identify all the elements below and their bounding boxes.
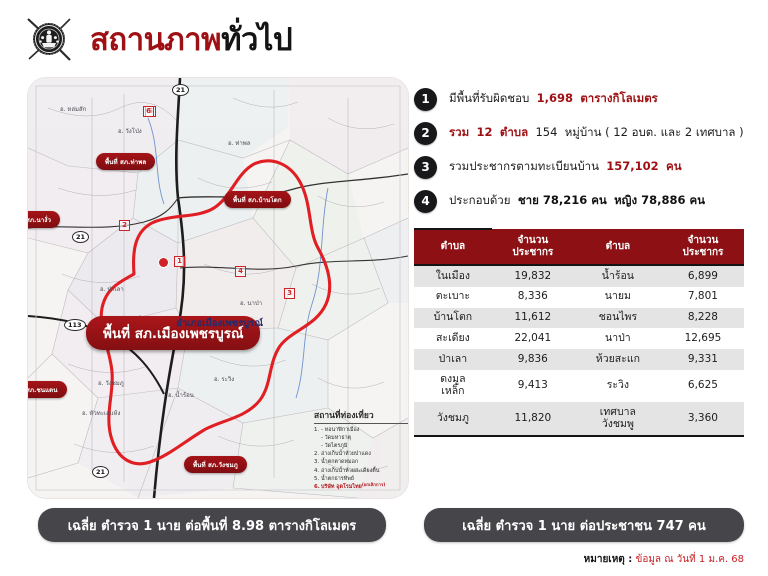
cell-line: ชอนไพร	[576, 312, 660, 324]
footnote-label: หมายเหตุ :	[584, 554, 633, 565]
cell-line: ห้วยสะแก	[576, 354, 660, 366]
fact-part: 12	[477, 125, 493, 139]
table-cell-1: ในเมือง	[414, 265, 492, 287]
table-row: ในเมือง19,832น้ำร้อน6,899	[414, 265, 744, 287]
table-column-header-3: ตำบล	[574, 229, 662, 265]
fact-text-2: รวม 12 ตำบล 154 หมู่บ้าน ( 12 อบต. และ 2…	[449, 124, 744, 142]
population-table: ตำบลจำนวนประชากรตำบลจำนวนประชากร ในเมือง…	[414, 228, 744, 437]
map-poi-marker-1: 1	[174, 256, 185, 267]
table-cell-4: 7,801	[662, 287, 744, 308]
map-poi-marker-3: 3	[284, 288, 295, 299]
map-area-name-4: อ. ป่าเลา	[100, 284, 124, 294]
header-line2: ประชากร	[664, 247, 742, 259]
cell-line: ป่าเลา	[416, 354, 490, 366]
map-station-label-4: พื้นที่ สภ.ชนแดน	[28, 381, 67, 398]
cell-line: 9,413	[494, 380, 572, 392]
legend-item-highlighted: 6.บริษัท อุตโรมไทย (ยกเลิกการ)	[314, 483, 408, 491]
map-area-name-3: อ. วังโป่ง	[118, 126, 142, 136]
cell-line: 7,801	[664, 291, 742, 303]
table-row: บ้านโตก11,612ชอนไพร8,228	[414, 308, 744, 329]
legend-subitem-1-2: - วัดไตรภูมิ	[314, 442, 408, 450]
header-line1: ตำบล	[576, 241, 660, 253]
fact-part: คน	[666, 159, 682, 173]
fact-text-4: ประกอบด้วย ชาย 78,216 คน หญิง 78,886 คน	[449, 192, 705, 210]
table-column-header-2: จำนวนประชากร	[492, 229, 574, 265]
map-station-label-2: พื้นที่ สภ.นางั่ว	[28, 211, 60, 228]
table-cell-3: เทศบาลวังชมพู	[574, 402, 662, 436]
table-cell-4: 6,899	[662, 265, 744, 287]
cell-line: 12,695	[664, 333, 742, 345]
table-cell-3: ชอนไพร	[574, 308, 662, 329]
map-poi-marker-2: 2	[119, 220, 130, 231]
cell-line: 9,331	[664, 354, 742, 366]
fact-badge-3: 3	[414, 156, 437, 179]
cell-line: วังชมพู	[576, 419, 660, 431]
table-cell-1: ตะเบาะ	[414, 287, 492, 308]
legend-item-number: 6.	[314, 483, 321, 491]
fact-part: ประกอบด้วย	[449, 193, 511, 207]
fact-text-1: มีพื้นที่รับผิดชอบ 1,698 ตารางกิโลเมตร	[449, 90, 658, 108]
table-cell-2: 22,041	[492, 328, 574, 349]
page-title: สถานภาพทั่วไป	[90, 14, 292, 64]
table-cell-1: ป่าเลา	[414, 349, 492, 370]
table-cell-2: 9,836	[492, 349, 574, 370]
fact-row-4: 4ประกอบด้วย ชาย 78,216 คน หญิง 78,886 คน	[414, 184, 760, 218]
map-area-name-7: อ. วังชมภู	[98, 378, 124, 388]
cell-line: 8,228	[664, 312, 742, 324]
legend-item-note: (ยกเลิกการ)	[362, 483, 386, 491]
cell-line: นายม	[576, 291, 660, 303]
table-cell-3: ห้วยสะแก	[574, 349, 662, 370]
fact-part: มีพื้นที่รับผิดชอบ	[449, 91, 529, 105]
table-cell-1: บ้านโตก	[414, 308, 492, 329]
table-row: ดงมูลเหล็ก9,413ระวิง6,625	[414, 370, 744, 403]
fact-badge-2: 2	[414, 122, 437, 145]
header-line1: ตำบล	[416, 241, 490, 253]
cell-line: 6,625	[664, 380, 742, 392]
fact-row-3: 3รวมประชากรตามทะเบียนบ้าน 157,102 คน	[414, 150, 760, 184]
table-cell-2: 11,820	[492, 402, 574, 436]
legend-item-text: อ่างเก็บน้ำห้วยสะเดียงตื้น	[321, 467, 379, 475]
header-line2: ประชากร	[494, 247, 572, 259]
legend-item-number: 4.	[314, 467, 321, 475]
table-cell-1: สะเดียง	[414, 328, 492, 349]
fact-part: รวมประชากรตามทะเบียนบ้าน	[449, 159, 599, 173]
cell-line: ตะเบาะ	[416, 291, 490, 303]
legend-item-text: บริษัท อุตโรมไทย	[321, 483, 362, 491]
legend-item-number: 5.	[314, 475, 321, 483]
table-cell-4: 9,331	[662, 349, 744, 370]
legend-item-3: 3.น้ำตกตาดหมอก	[314, 458, 408, 466]
highway-shield-21-0: 21	[172, 84, 189, 96]
police-emblem-icon	[20, 10, 78, 68]
legend-item-text: - หอนาฬิกาเมือง	[321, 426, 359, 434]
highway-shield-113-1: 113	[64, 319, 86, 331]
map-area-name-8: อ. หัวทะเลแห้ง	[82, 408, 120, 418]
legend-item-text: น้ำตกธารทิพย์	[321, 475, 354, 483]
map-station-label-5: พื้นที่ สภ.วังชมภู	[184, 456, 247, 473]
legend-item-5: 5.น้ำตกธารทิพย์	[314, 475, 408, 483]
fact-text-3: รวมประชากรตามทะเบียนบ้าน 157,102 คน	[449, 158, 682, 176]
table-cell-1: วังชมภู	[414, 402, 492, 436]
table-row: วังชมภู11,820เทศบาลวังชมพู3,360	[414, 402, 744, 436]
fact-part: ตารางกิโลเมตร	[580, 91, 658, 105]
highway-shield-21-3: 21	[92, 466, 109, 478]
population-table-wrapper: ตำบลจำนวนประชากรตำบลจำนวนประชากร ในเมือง…	[414, 228, 744, 437]
legend-item-2: 2.อ่างเก็บน้ำห้วยป่าแดง	[314, 450, 408, 458]
map-station-label-3: พื้นที่ สภ.บ้านโตก	[224, 191, 291, 208]
legend-item-4: 4.อ่างเก็บน้ำห้วยสะเดียงตื้น	[314, 467, 408, 475]
table-cell-3: น้ำร้อน	[574, 265, 662, 287]
map-poi-marker-4: 4	[235, 266, 246, 277]
cell-line: 11,612	[494, 312, 572, 324]
table-cell-3: นาป่า	[574, 328, 662, 349]
cell-line: เทศบาล	[576, 407, 660, 419]
legend-item-number: 2.	[314, 450, 321, 458]
table-cell-4: 3,360	[662, 402, 744, 436]
cell-line: สะเดียง	[416, 333, 490, 345]
table-cell-4: 12,695	[662, 328, 744, 349]
cell-line: นาป่า	[576, 333, 660, 345]
map-legend: สถานที่ท่องเที่ยว 1.- หอนาฬิกาเมือง- วัด…	[314, 408, 408, 491]
map-area-name-9: อ. ระวิง	[214, 374, 234, 384]
cell-line: 6,899	[664, 271, 742, 283]
table-column-header-1: ตำบล	[414, 229, 492, 265]
table-cell-2: 19,832	[492, 265, 574, 287]
table-cell-4: 8,228	[662, 308, 744, 329]
map-poi-marker-6: 6	[143, 106, 154, 117]
fact-part: 157,102	[606, 159, 658, 173]
page-title-red: สถานภาพ	[90, 22, 221, 58]
cell-line: 19,832	[494, 271, 572, 283]
table-row: ตะเบาะ8,336นายม7,801	[414, 287, 744, 308]
table-cell-4: 6,625	[662, 370, 744, 403]
cell-line: 3,360	[664, 413, 742, 425]
legend-title: สถานที่ท่องเที่ยว	[314, 408, 408, 424]
fact-badge-4: 4	[414, 190, 437, 213]
cell-line: เหล็ก	[416, 386, 490, 398]
cell-line: น้ำร้อน	[576, 271, 660, 283]
fact-part: ตำบล	[500, 125, 528, 139]
map-area-name-5: อ. นาป่า	[240, 298, 262, 308]
legend-item-1: 1.- หอนาฬิกาเมือง	[314, 426, 408, 434]
legend-item-text: น้ำตกตาดหมอก	[321, 458, 358, 466]
facts-list: 1มีพื้นที่รับผิดชอบ 1,698 ตารางกิโลเมตร2…	[414, 82, 760, 218]
map-district-heading: อำเภอเมืองเพชรบูรณ์	[176, 316, 263, 331]
map-panel[interactable]: พื้นที่ สภ.ท่าพลพื้นที่ สภ.นางั่วพื้นที่…	[28, 78, 408, 498]
table-body: ในเมือง19,832น้ำร้อน6,899ตะเบาะ8,336นายม…	[414, 265, 744, 436]
avg-officer-per-area-pill: เฉลี่ย ตำรวจ 1 นาย ต่อพื้นที่ 8.98 ตาราง…	[38, 508, 386, 542]
fact-part: 154	[535, 125, 557, 139]
cell-line: 9,836	[494, 354, 572, 366]
cell-line: 8,336	[494, 291, 572, 303]
map-area-name-1: อ. หล่มสัก	[60, 104, 86, 114]
header-line1: จำนวน	[494, 235, 572, 247]
table-cell-2: 8,336	[492, 287, 574, 308]
table-row: สะเดียง22,041นาป่า12,695	[414, 328, 744, 349]
fact-part: หมู่บ้าน ( 12 อบต. และ 2 เทศบาล )	[565, 125, 744, 139]
table-cell-2: 11,612	[492, 308, 574, 329]
cell-line: ในเมือง	[416, 271, 490, 283]
table-cell-1: ดงมูลเหล็ก	[414, 370, 492, 403]
fact-part: รวม	[449, 125, 469, 139]
map-city-center-dot	[159, 258, 168, 267]
fact-badge-1: 1	[414, 88, 437, 111]
header-line1: จำนวน	[664, 235, 742, 247]
fact-part: 1,698	[537, 91, 573, 105]
map-area-name-10: อ. น้ำร้อน	[168, 390, 194, 400]
avg-officer-per-population-pill: เฉลี่ย ตำรวจ 1 นาย ต่อประชาชน 747 คน	[424, 508, 744, 542]
table-head: ตำบลจำนวนประชากรตำบลจำนวนประชากร	[414, 229, 744, 265]
page-header: สถานภาพทั่วไป	[0, 0, 420, 78]
legend-item-number: 3.	[314, 458, 321, 466]
legend-item-number: 1.	[314, 426, 321, 434]
map-station-label-1: พื้นที่ สภ.ท่าพล	[96, 153, 155, 170]
cell-line: 11,820	[494, 413, 572, 425]
fact-row-1: 1มีพื้นที่รับผิดชอบ 1,698 ตารางกิโลเมตร	[414, 82, 760, 116]
map-area-name-2: อ. ท่าพล	[228, 138, 250, 148]
highway-shield-21-2: 21	[72, 231, 89, 243]
cell-line: บ้านโตก	[416, 312, 490, 324]
legend-item-list: 1.- หอนาฬิกาเมือง- วัดมหาธาตุ- วัดไตรภูม…	[314, 426, 408, 491]
fact-row-2: 2รวม 12 ตำบล 154 หมู่บ้าน ( 12 อบต. และ …	[414, 116, 760, 150]
table-column-header-4: จำนวนประชากร	[662, 229, 744, 265]
fact-part: หญิง 78,886 คน	[614, 193, 705, 207]
footnote-value: ข้อมูล ณ วันที่ 1 ม.ค. 68	[635, 554, 744, 565]
table-row: ป่าเลา9,836ห้วยสะแก9,331	[414, 349, 744, 370]
table-cell-3: ระวิง	[574, 370, 662, 403]
cell-line: ระวิง	[576, 380, 660, 392]
table-header-row: ตำบลจำนวนประชากรตำบลจำนวนประชากร	[414, 229, 744, 265]
fact-part: ชาย 78,216 คน	[518, 193, 607, 207]
legend-item-text: อ่างเก็บน้ำห้วยป่าแดง	[321, 450, 371, 458]
cell-line: 22,041	[494, 333, 572, 345]
footnote: หมายเหตุ : ข้อมูล ณ วันที่ 1 ม.ค. 68	[584, 552, 744, 567]
table-cell-2: 9,413	[492, 370, 574, 403]
legend-subitem-1-1: - วัดมหาธาตุ	[314, 434, 408, 442]
page-title-black: ทั่วไป	[221, 22, 292, 58]
table-cell-3: นายม	[574, 287, 662, 308]
cell-line: วังชมภู	[416, 413, 490, 425]
